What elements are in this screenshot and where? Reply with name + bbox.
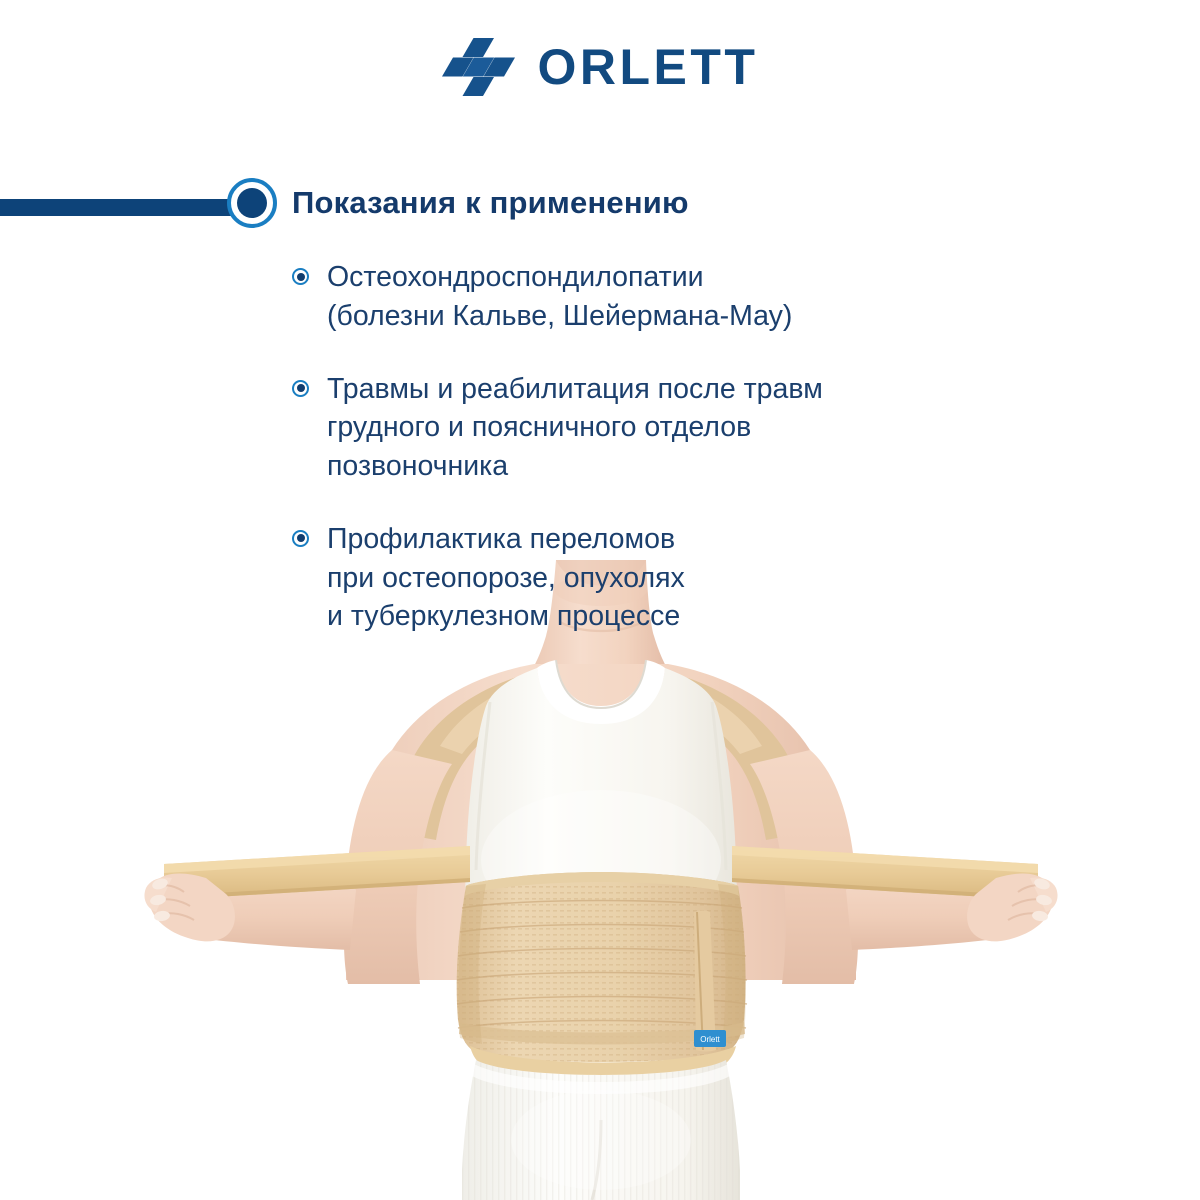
list-item-label: Профилактика переломов при остеопорозе, …	[327, 520, 685, 636]
ring-dot-marker-icon	[227, 178, 277, 228]
svg-text:Orlett: Orlett	[700, 1035, 720, 1044]
product-photo: Orlett	[0, 560, 1200, 1200]
brand-wordmark: ORLETT	[538, 42, 759, 92]
list-item-label: Остеохондроспондилопатии (болезни Кальве…	[327, 258, 792, 336]
ring-dot-bullet-icon	[292, 380, 309, 397]
heading-accent-bar	[0, 199, 258, 216]
indications-list: Остеохондроспондилопатии (болезни Кальве…	[292, 258, 1012, 636]
list-item: Профилактика переломов при остеопорозе, …	[292, 520, 1012, 636]
ring-dot-bullet-icon	[292, 530, 309, 547]
list-item: Травмы и реабилитация после травм грудно…	[292, 370, 1012, 486]
list-item: Остеохондроспондилопатии (болезни Кальве…	[292, 258, 1012, 336]
ring-dot-bullet-icon	[292, 268, 309, 285]
page-title: Показания к применению	[292, 185, 689, 221]
list-item-label: Травмы и реабилитация после травм грудно…	[327, 370, 823, 486]
brand-logo: ORLETT	[0, 38, 1200, 96]
orlett-cross-logo-icon	[442, 38, 516, 96]
